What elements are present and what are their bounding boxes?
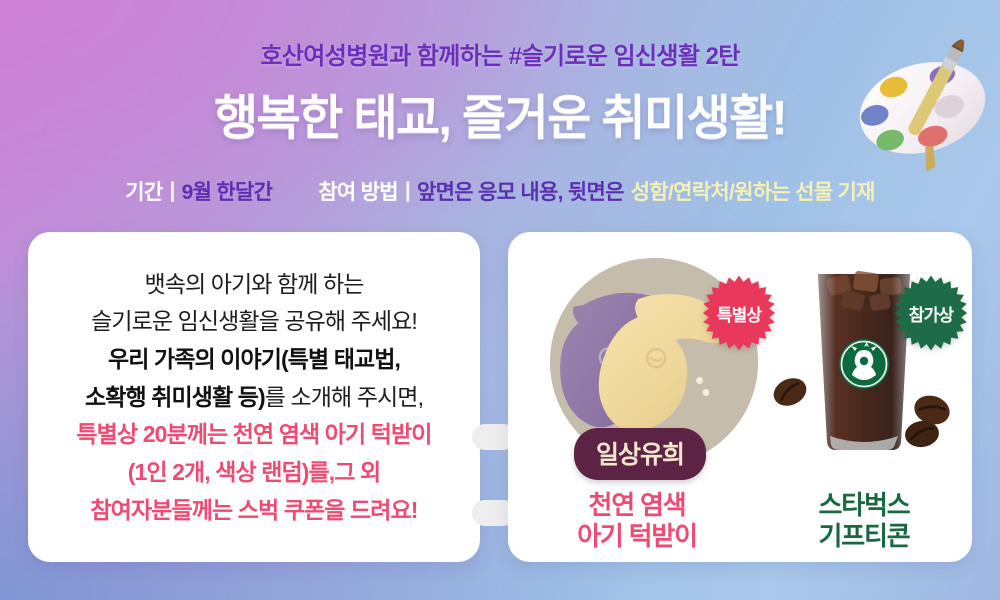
- prize-bib-caption-line2: 아기 턱받이: [522, 521, 752, 552]
- prize-starbucks-caption-line1: 스타벅스: [764, 490, 964, 521]
- desc-line-7: 참여자분들께는 스벅 쿠폰을 드려요!: [90, 494, 417, 527]
- prize-starbucks-caption-line2: 기프티콘: [764, 521, 964, 552]
- badge-entry-prize: 참가상: [892, 274, 970, 352]
- desc-line-4-bold: 소확행 취미생활 등): [85, 384, 265, 410]
- method-value-front: 앞면은 응모 내용, 뒷면은: [417, 176, 624, 206]
- desc-line-3: 우리 가족의 이야기(특별 태교법,: [108, 343, 400, 376]
- badge-entry-label: 참가상: [909, 301, 954, 326]
- banner-subtitle: 호산여성병원과 함께하는 #슬기로운 임신생활 2탄: [0, 36, 1000, 71]
- desc-line-1: 뱃속의 아기와 함께 하는: [144, 268, 363, 301]
- method-label: 참여 방법: [318, 176, 398, 206]
- banner-title: 행복한 태교, 즐거운 취미생활!: [0, 78, 1000, 148]
- period-label: 기간: [125, 176, 162, 206]
- period-separator: |: [169, 179, 174, 203]
- desc-line-5: 특별상 20분께는 천연 염색 아기 턱받이: [76, 418, 431, 451]
- desc-line-2: 슬기로운 임신생활을 공유해 주세요!: [91, 305, 417, 338]
- prize-item-bib: 특별상 일상유희 천연 염색 아기 턱받이: [522, 250, 752, 552]
- method-separator: |: [405, 179, 410, 203]
- desc-line-4: 소확행 취미생활 등)를 소개해 주시면,: [85, 381, 423, 414]
- prize-bib-caption-line1: 천연 염색: [522, 490, 752, 521]
- promo-banner: 호산여성병원과 함께하는 #슬기로운 임신생활 2탄 행복한 태교, 즐거운 취…: [0, 0, 1000, 600]
- prizes-card: 특별상 일상유희 천연 염색 아기 턱받이: [508, 232, 972, 562]
- campaign-description-card: 뱃속의 아기와 함께 하는 슬기로운 임신생활을 공유해 주세요! 우리 가족의…: [28, 232, 480, 562]
- coffee-photo-wrap: 참가상: [764, 250, 964, 482]
- desc-line-6: (1인 2개, 색상 랜덤)를,그 외: [128, 456, 381, 489]
- info-period: 기간 | 9월 한달간: [125, 176, 272, 206]
- desc-line-4-normal: 를 소개해 주시면,: [265, 384, 423, 410]
- prize-bib-caption: 천연 염색 아기 턱받이: [522, 490, 752, 552]
- info-bar: 기간 | 9월 한달간 참여 방법 | 앞면은 응모 내용, 뒷면은 성함/연락…: [0, 176, 1000, 206]
- info-method: 참여 방법 | 앞면은 응모 내용, 뒷면은 성함/연락처/원하는 선물 기재: [318, 176, 875, 206]
- brand-pill-ilsangyuhui: 일상유희: [574, 428, 706, 480]
- prize-starbucks-caption: 스타벅스 기프티콘: [764, 490, 964, 552]
- campaign-description-text: 뱃속의 아기와 함께 하는 슬기로운 임신생활을 공유해 주세요! 우리 가족의…: [28, 232, 480, 562]
- prize-item-starbucks: 참가상 스타벅스 기프티콘: [764, 250, 964, 552]
- period-value: 9월 한달간: [182, 176, 273, 206]
- bib-photo-wrap: 특별상 일상유희: [522, 250, 752, 482]
- method-value-highlight: 성함/연락처/원하는 선물 기재: [631, 176, 875, 206]
- badge-special-label: 특별상: [717, 301, 762, 326]
